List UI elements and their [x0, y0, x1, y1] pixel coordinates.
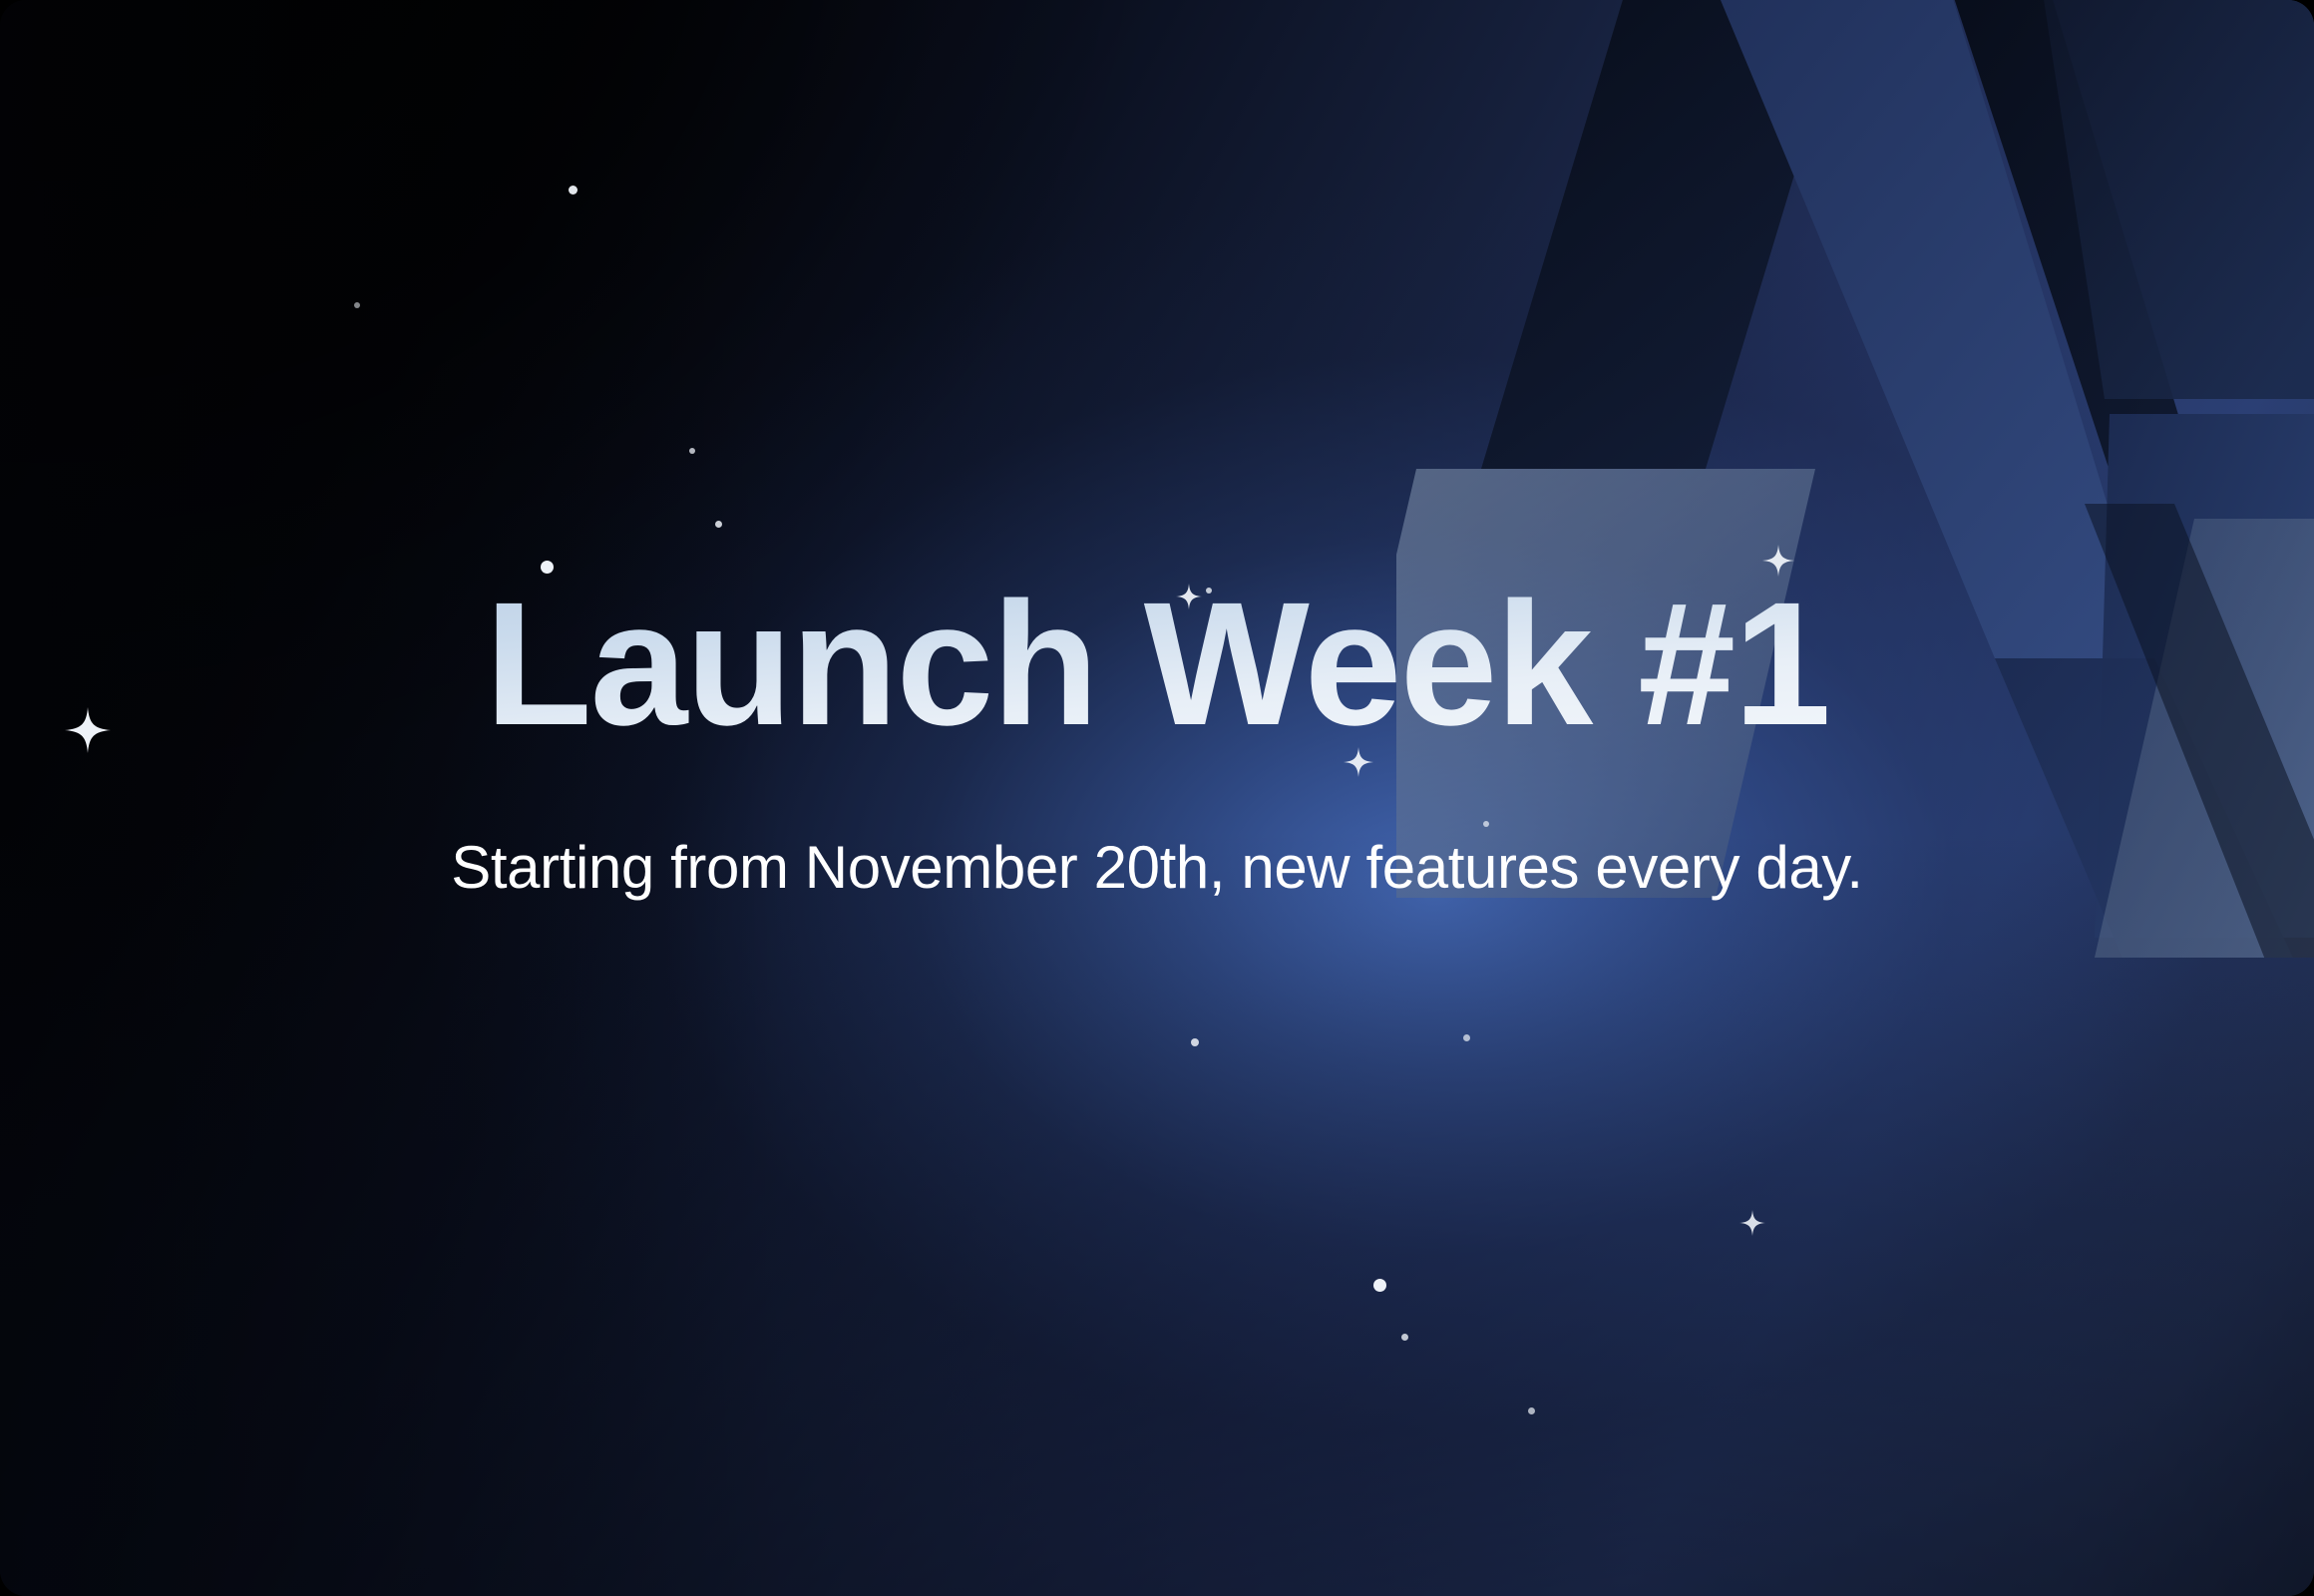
banner-content: Launch Week #1 Starting from November 20…	[0, 0, 2314, 1596]
banner-subtitle: Starting from November 20th, new feature…	[0, 838, 2314, 898]
launch-week-banner: Launch Week #1 Starting from November 20…	[0, 0, 2314, 1596]
banner-title: Launch Week #1	[0, 577, 2314, 752]
